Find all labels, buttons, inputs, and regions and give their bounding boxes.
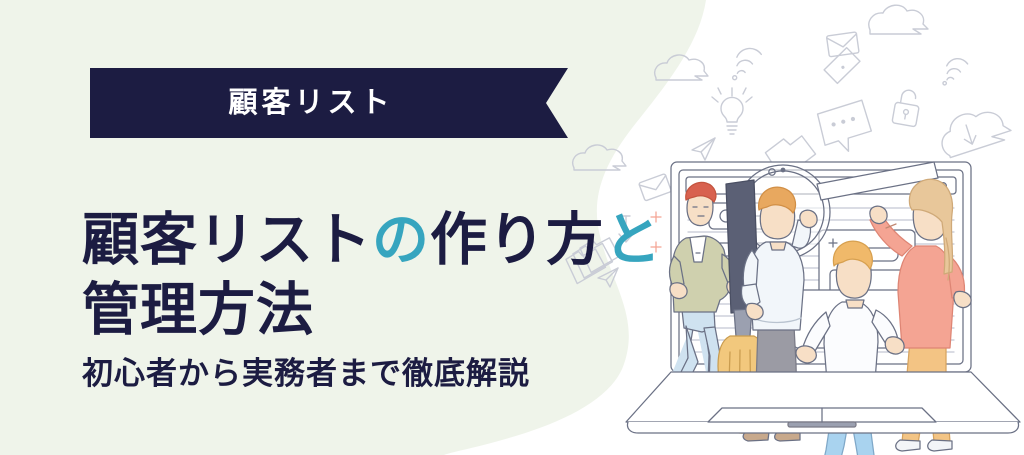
card-tag-icon <box>820 45 865 86</box>
page-title: 顧客リストの作り方と 管理方法 <box>82 206 642 345</box>
cloud-icon <box>869 5 928 34</box>
page-title-line-2: 管理方法 <box>82 276 642 346</box>
title-part-accent-1: の <box>372 208 430 272</box>
cloud-icon <box>655 55 708 80</box>
title-part-navy-1: 顧客リスト <box>82 208 372 272</box>
team-working-on-laptop-illustration <box>616 150 1024 455</box>
hero-banner: 顧客リスト 顧客リストの作り方と 管理方法 初心者から実務者まで徹底解説 <box>0 0 1024 455</box>
page-title-line-1: 顧客リストの作り方と <box>82 206 642 276</box>
envelope-icon <box>826 32 859 57</box>
ribbon-banner: 顧客リスト <box>90 68 568 138</box>
wifi-icon <box>729 45 762 86</box>
wifi-icon <box>940 55 968 90</box>
page-subtitle: 初心者から実務者まで徹底解説 <box>82 348 530 393</box>
title-part-navy-2: 作り方 <box>430 208 604 272</box>
ribbon-label: 顧客リスト <box>228 89 393 118</box>
chat-bubble-icon <box>817 99 875 155</box>
lightbulb-icon <box>712 88 752 134</box>
lock-icon <box>892 88 922 127</box>
laptop-base <box>626 372 1020 433</box>
